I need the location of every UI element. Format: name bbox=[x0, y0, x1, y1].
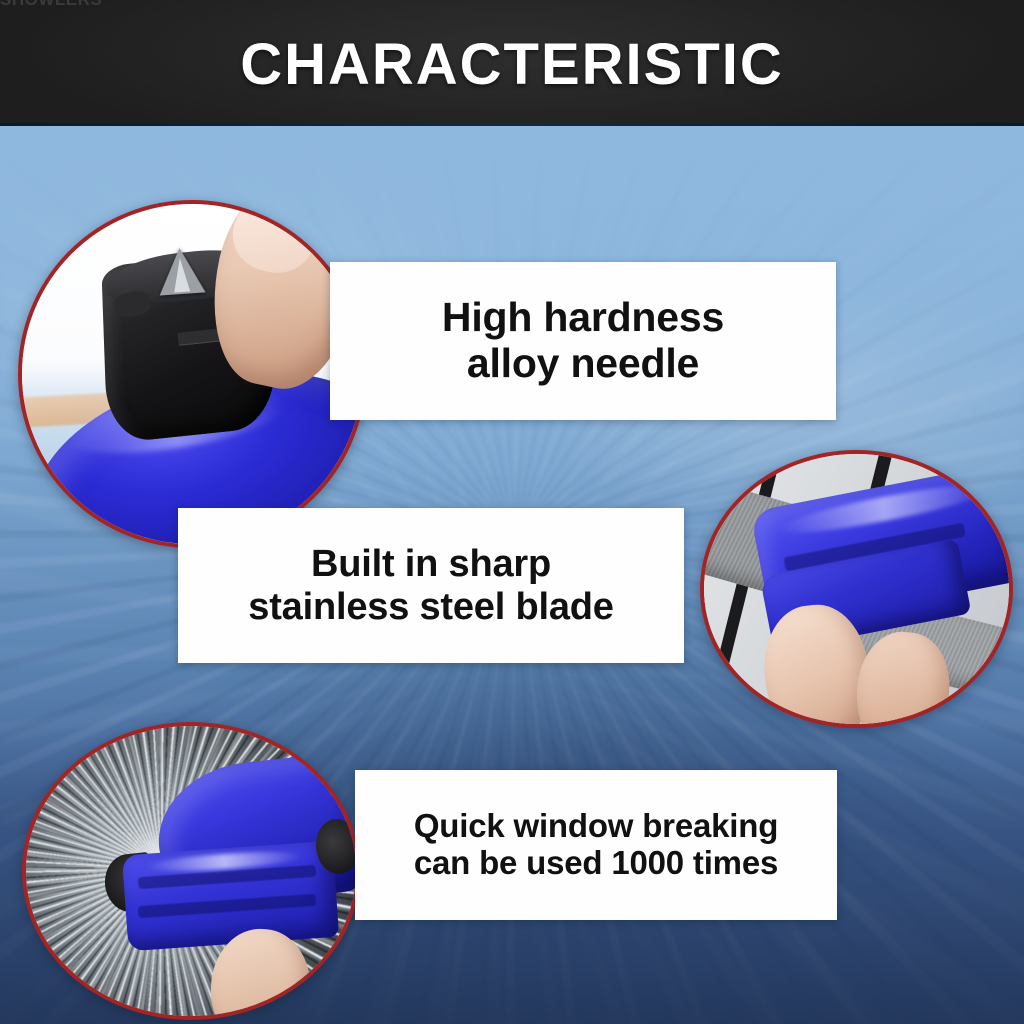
caption-line-1: High hardness bbox=[442, 295, 724, 341]
feature-photo-breaking-inner bbox=[26, 726, 356, 1016]
caption-line-2: can be used 1000 times bbox=[414, 845, 778, 882]
caption-line-2: stainless steel blade bbox=[248, 586, 613, 629]
feature-caption-blade: Built in sharp stainless steel blade bbox=[178, 508, 684, 663]
feature-photo-blade-inner bbox=[704, 454, 1009, 724]
feature-photo-needle bbox=[18, 200, 366, 548]
feature-photo-blade bbox=[700, 450, 1013, 728]
brand-watermark: SHOWLERS bbox=[0, 0, 102, 10]
alloy-needle-highlight bbox=[172, 258, 190, 293]
feature-photo-breaking bbox=[22, 722, 360, 1020]
feature-caption-breaking: Quick window breaking can be used 1000 t… bbox=[355, 770, 837, 920]
caption-line-1: Built in sharp bbox=[311, 543, 551, 586]
page-title: CHARACTERISTIC bbox=[0, 36, 1024, 94]
infographic-canvas: SHOWLERS CHARACTERISTIC bbox=[0, 0, 1024, 1024]
feature-photo-needle-inner bbox=[22, 204, 362, 544]
caption-line-2: alloy needle bbox=[467, 341, 699, 387]
feature-caption-needle: High hardness alloy needle bbox=[330, 262, 836, 420]
caption-line-1: Quick window breaking bbox=[414, 808, 778, 845]
header-band: SHOWLERS CHARACTERISTIC bbox=[0, 0, 1024, 125]
